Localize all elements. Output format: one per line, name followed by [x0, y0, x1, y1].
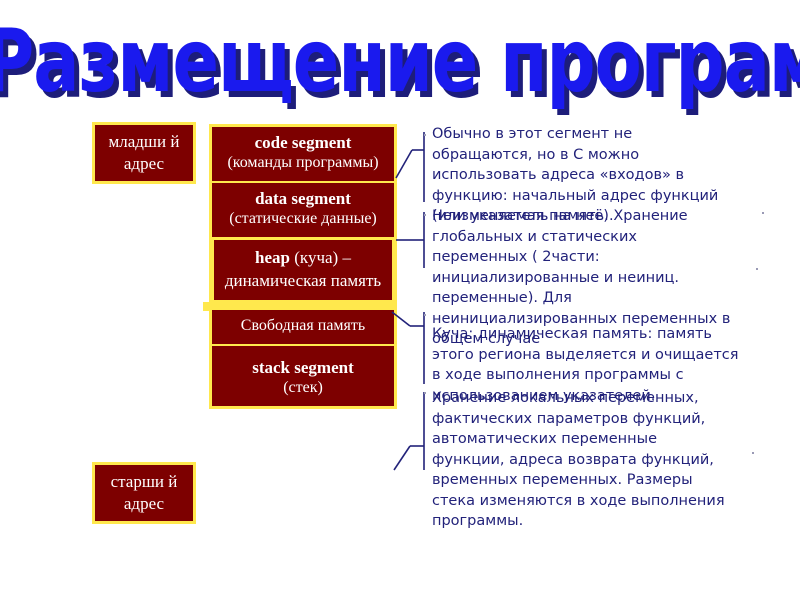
- segment-code-desc: (команды программы): [216, 153, 390, 173]
- heap-free-divider: [212, 303, 394, 310]
- segment-heap-term: heap: [255, 248, 290, 267]
- segment-free-memory-desc: Свободная память: [216, 316, 390, 336]
- page-title: Размещение программы в памяти Размещение…: [0, 8, 800, 100]
- high-address-label: старши й адрес: [92, 462, 196, 524]
- connector-code: [396, 132, 424, 202]
- segment-free-memory: Свободная память: [212, 310, 394, 344]
- artifact-dot: [424, 392, 426, 394]
- segment-heap: heap (куча) – динамическая память: [211, 237, 395, 303]
- connector-stack: [394, 392, 424, 470]
- segment-stack-desc: (стек): [216, 378, 390, 398]
- low-address-label: младши й адрес: [92, 122, 196, 184]
- note-stack-segment: Хранение локальных переменных, фактическ…: [432, 388, 732, 532]
- artifact-dot: [762, 212, 764, 214]
- segment-code: code segment (команды программы): [212, 127, 394, 183]
- connector-data: [396, 212, 424, 268]
- segment-stack-term: stack segment: [216, 358, 390, 378]
- free-stack-divider: [212, 344, 394, 352]
- artifact-dot: [424, 134, 426, 136]
- memory-layout-diagram: code segment (команды программы) data se…: [209, 124, 397, 409]
- segment-data-term: data segment: [216, 189, 390, 209]
- segment-data: data segment (статические данные): [212, 183, 394, 237]
- artifact-dot: [752, 452, 754, 454]
- segment-heap-desc: (куча) – динамическая память: [225, 248, 381, 290]
- divider-tab-marker: [203, 302, 212, 311]
- artifact-dot: [424, 214, 426, 216]
- artifact-dot: [756, 268, 758, 270]
- artifact-dot: [424, 314, 426, 316]
- segment-code-term: code segment: [216, 133, 390, 153]
- segment-stack: stack segment (стек): [212, 352, 394, 406]
- segment-data-desc: (статические данные): [216, 209, 390, 229]
- page-title-text: Размещение программы в памяти: [0, 8, 800, 116]
